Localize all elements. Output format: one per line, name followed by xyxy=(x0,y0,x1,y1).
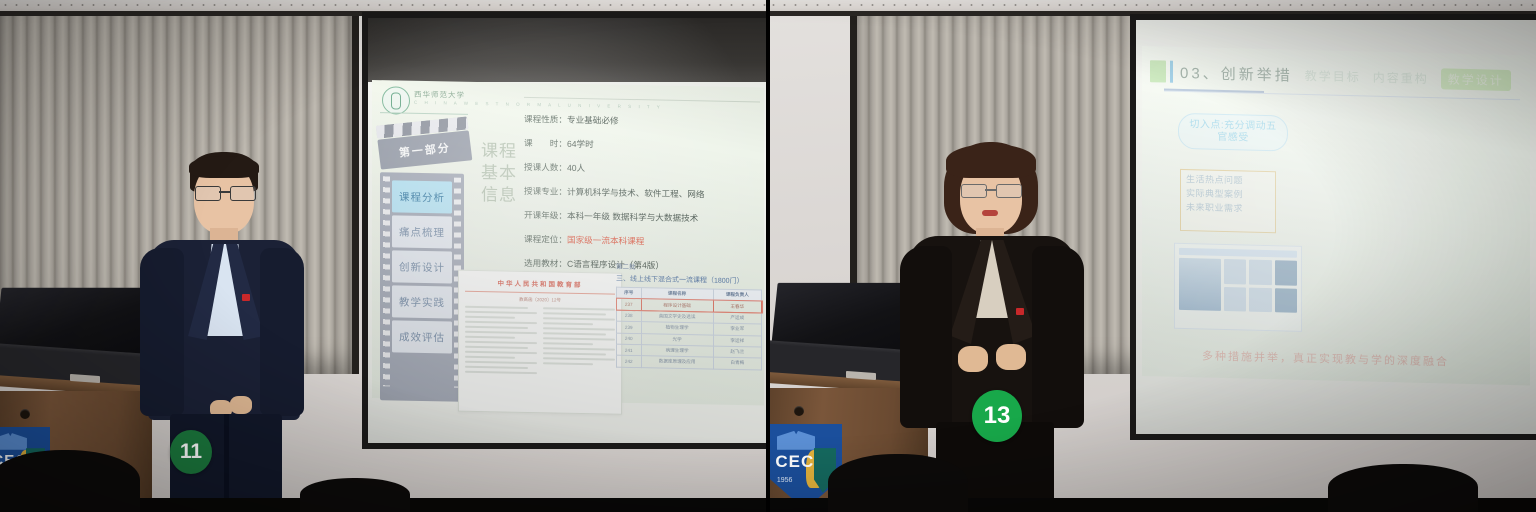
slide-menu-filmstrip: 课程分析 痛点梳理 创新设计 教学实践 成效评估 xyxy=(380,172,464,402)
lectern-knob-left xyxy=(20,409,30,419)
topic-line-2: 未来职业需求 xyxy=(1186,201,1270,217)
row-2-owner: 李业军 xyxy=(713,323,761,335)
slide-left: 西华师范大学 C H I N A W E S T N O R M A L U N… xyxy=(372,80,764,406)
presenter-arm-right xyxy=(260,248,304,416)
presenter-hand-left xyxy=(958,346,988,372)
course-table-thumbnail: 第二批 三、线上线下混合式一流课程（1800门） 序号 课程名称 课程负责人 2… xyxy=(616,261,762,404)
contestant-badge-left: 11 xyxy=(170,430,212,474)
presenter-hand-right xyxy=(230,396,252,414)
ceiling-perforations xyxy=(0,2,768,8)
slide-section-title: 课程 基本 信息 xyxy=(476,140,522,206)
screen-shadow-band xyxy=(368,18,768,82)
tab-0[interactable]: 教学目标 xyxy=(1305,66,1361,84)
audience-head-right-2 xyxy=(1328,464,1478,512)
header-number: 03、 xyxy=(1180,61,1221,83)
presenter-arm-left xyxy=(900,246,952,428)
row-1-no: 238 xyxy=(617,310,642,322)
presenter-fringe-left xyxy=(189,156,259,178)
gallery-thumb-4 xyxy=(1224,287,1246,312)
projection-screen-right: 03、 创新举措 教学目标 内容重构 教学设计 切入点:充分调动五官感受 生活热… xyxy=(1136,20,1536,434)
presenter-party-pin-right xyxy=(1016,308,1024,315)
presenter-fringe-right xyxy=(946,144,1036,178)
gallery-thumb-1 xyxy=(1224,259,1246,284)
section-part-label: 第一部分 xyxy=(398,139,452,160)
presenter-arm-right xyxy=(1032,246,1084,428)
row-0-owner: 王春华 xyxy=(713,300,761,312)
menu-item-2[interactable]: 创新设计 xyxy=(392,250,452,283)
info-key-4: 开课年级： xyxy=(524,211,567,220)
presenter-left: 11 xyxy=(132,152,318,512)
gallery-thumb-5 xyxy=(1249,287,1271,312)
document-column-left xyxy=(465,306,537,377)
info-key-2: 授课人数： xyxy=(524,163,567,172)
tab-1[interactable]: 内容重构 xyxy=(1373,68,1429,86)
info-value-2: 40人 xyxy=(567,163,585,172)
glasses-lens-left xyxy=(961,184,987,198)
presenter-glasses-right xyxy=(960,184,1022,197)
document-header: 中华人民共和国教育部 xyxy=(465,277,615,290)
row-2-no: 239 xyxy=(617,321,642,333)
menu-item-3[interactable]: 教学实践 xyxy=(392,285,452,318)
glasses-lens-left xyxy=(195,186,221,201)
info-value-5: 国家级一流本科课程 xyxy=(567,235,644,245)
info-value-4: 本科一年级 数据科学与大数据技术 xyxy=(567,211,698,222)
table-row: 242 数据库原理及应用 白青梅 xyxy=(617,355,762,369)
document-column-right xyxy=(543,307,615,378)
presenter-glasses-left xyxy=(194,186,256,200)
info-key-5: 课程定位： xyxy=(524,235,567,244)
gallery-row-bottom xyxy=(1224,287,1297,313)
slide-title-line-2: 信息 xyxy=(476,183,522,206)
lectern-knob-right xyxy=(794,406,804,416)
document-rule xyxy=(465,291,615,295)
header-blue-bar xyxy=(1170,61,1173,83)
clapperboard-icon: 第一部分 xyxy=(376,116,473,169)
info-key-6: 选用教材： xyxy=(524,259,567,268)
info-value-1: 64学时 xyxy=(567,139,594,148)
presenter-arm-left xyxy=(140,248,184,416)
row-3-owner: 李运祥 xyxy=(713,335,761,347)
info-key-1: 课 时： xyxy=(524,139,567,148)
document-columns xyxy=(465,306,615,379)
screenshot-stage: 西华师范大学 C H I N A W E S T N O R M A L U N… xyxy=(0,0,1536,512)
table-col-2: 课程负责人 xyxy=(713,289,761,301)
table-col-0: 序号 xyxy=(617,287,642,299)
menu-item-4[interactable]: 成效评估 xyxy=(392,320,452,353)
table-section-title: 三、线上线下混合式一流课程（1800门） xyxy=(616,274,762,287)
university-seal-icon xyxy=(382,86,410,115)
glasses-lens-right xyxy=(996,184,1022,198)
glasses-bridge xyxy=(219,191,230,193)
row-5-course: 数据库原理及应用 xyxy=(641,356,713,369)
panel-divider xyxy=(766,0,770,512)
row-0-no: 237 xyxy=(617,299,642,311)
panel-right: 03、 创新举措 教学目标 内容重构 教学设计 切入点:充分调动五官感受 生活热… xyxy=(768,0,1536,512)
row-4-no: 241 xyxy=(617,344,642,356)
gallery-title-bar xyxy=(1179,248,1297,258)
gallery-thumb-3 xyxy=(1275,260,1297,285)
info-key-3: 授课专业： xyxy=(524,187,567,196)
gallery-grid xyxy=(1179,258,1297,313)
audience-head-left-2 xyxy=(300,478,410,512)
gallery-thumb-column xyxy=(1224,259,1297,313)
slide-right: 03、 创新举措 教学目标 内容重构 教学设计 切入点:充分调动五官感受 生活热… xyxy=(1142,46,1530,385)
glasses-bridge xyxy=(985,189,996,191)
row-3-no: 240 xyxy=(617,333,642,345)
cec-logo-text: CEC xyxy=(775,452,814,472)
info-key-0: 课程性质： xyxy=(524,115,567,124)
info-value-3: 计算机科学与技术、软件工程、网络 xyxy=(567,187,705,198)
document-subheader: 教高函〔2020〕12号 xyxy=(465,296,615,305)
slide-footer-text: 多种措施并举，真正实现教与学的深度融合 xyxy=(1202,347,1532,371)
gallery-thumb-main xyxy=(1179,258,1221,311)
header-title: 创新举措 xyxy=(1221,62,1293,85)
tab-2[interactable]: 教学设计 xyxy=(1441,68,1511,91)
course-info-list: 课程性质： 专业基础必修 课 时： 64学时 授课人数： 40人 授课专业： 计… xyxy=(524,107,760,280)
audience-head-left-1 xyxy=(0,450,140,512)
header-green-chip xyxy=(1150,60,1166,82)
audience-head-right-1 xyxy=(828,454,968,512)
presenter-lips-right xyxy=(982,210,998,216)
slat-wall-edge xyxy=(352,14,359,374)
entry-point-pill: 切入点:充分调动五官感受 xyxy=(1178,113,1288,152)
slide-title-line-0: 课程 xyxy=(476,140,522,163)
image-gallery-panel xyxy=(1174,243,1302,332)
ceiling-perforations-right xyxy=(768,2,1536,8)
gallery-thumb-2 xyxy=(1249,260,1271,285)
presenter-hand-right xyxy=(996,344,1026,370)
row-4-owner: 赵飞兰 xyxy=(713,346,761,358)
course-table: 序号 课程名称 课程负责人 237 程序设计基础 王春华 238 英国文学史及选… xyxy=(616,287,762,370)
info-value-0: 专业基础必修 xyxy=(567,115,619,125)
row-1-owner: 产运成 xyxy=(713,312,761,324)
document-thumbnail: 中华人民共和国教育部 教高函〔2020〕12号 xyxy=(458,270,622,415)
menu-item-0[interactable]: 课程分析 xyxy=(392,180,452,213)
row-5-owner: 白青梅 xyxy=(713,357,761,369)
glasses-lens-right xyxy=(230,186,256,201)
topics-box: 生活热点问题 实际典型案例 未来职业需求 xyxy=(1180,169,1276,233)
menu-item-1[interactable]: 痛点梳理 xyxy=(392,215,452,248)
table-page-label: 第二批 xyxy=(616,261,762,274)
projection-screen-left: 西华师范大学 C H I N A W E S T N O R M A L U N… xyxy=(368,18,768,443)
gallery-thumb-6 xyxy=(1275,288,1297,313)
row-5-no: 242 xyxy=(617,355,642,367)
slide-title-line-1: 基本 xyxy=(476,162,522,185)
gallery-row-top xyxy=(1224,259,1297,285)
cec-logo-year: 1956 xyxy=(777,477,793,484)
presenter-party-pin-left xyxy=(242,294,250,301)
contestant-badge-right: 13 xyxy=(972,390,1022,442)
panel-left: 西华师范大学 C H I N A W E S T N O R M A L U N… xyxy=(0,0,768,512)
